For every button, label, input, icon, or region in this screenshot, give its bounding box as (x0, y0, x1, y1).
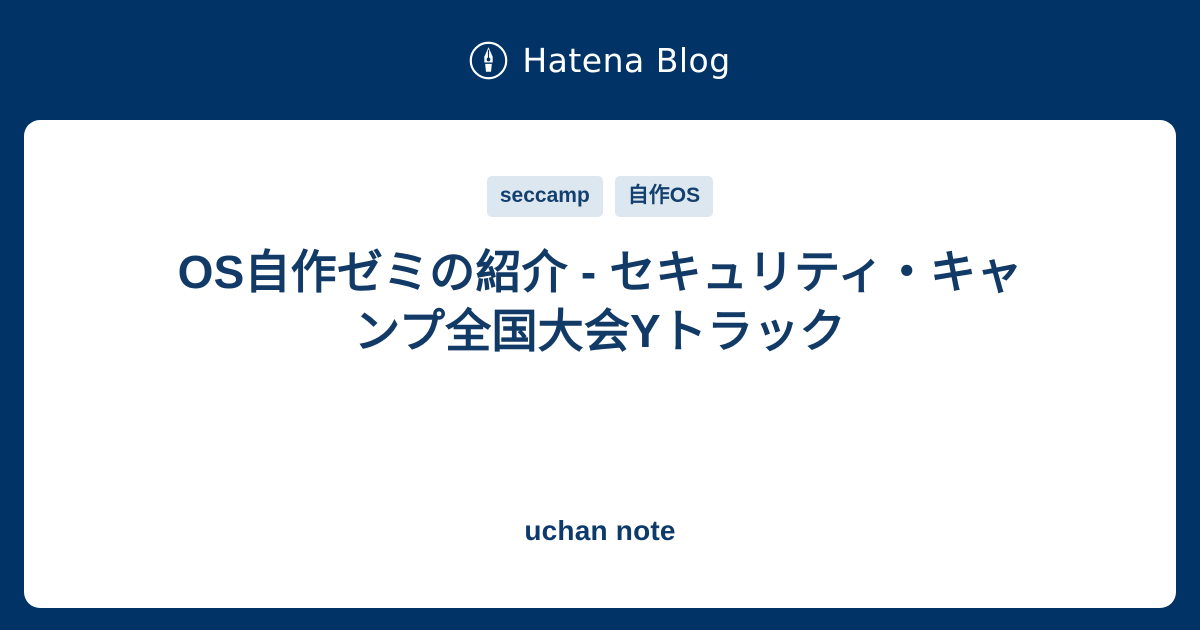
entry-title-container: OS自作ゼミの紹介 - セキュリティ・キャンプ全国大会Yトラック (84, 243, 1116, 361)
hatena-pen-nib-icon (469, 41, 508, 80)
tag-badge-seccamp[interactable]: seccamp (487, 176, 603, 217)
hatena-blog-brand-bar: Hatena Blog (0, 0, 1200, 120)
og-image-canvas: Hatena Blog seccamp 自作OS OS自作ゼミの紹介 - セキュ… (0, 0, 1200, 630)
entry-card: seccamp 自作OS OS自作ゼミの紹介 - セキュリティ・キャンプ全国大会… (24, 120, 1176, 608)
entry-title: OS自作ゼミの紹介 - セキュリティ・キャンプ全国大会Yトラック (160, 243, 1040, 361)
blog-name-container: uchan note (84, 517, 1116, 608)
tag-badge-jisaku-os[interactable]: 自作OS (615, 176, 713, 217)
tag-list: seccamp 自作OS (487, 176, 713, 217)
hatena-blog-wordmark: Hatena Blog (522, 44, 730, 77)
blog-name: uchan note (524, 517, 675, 545)
